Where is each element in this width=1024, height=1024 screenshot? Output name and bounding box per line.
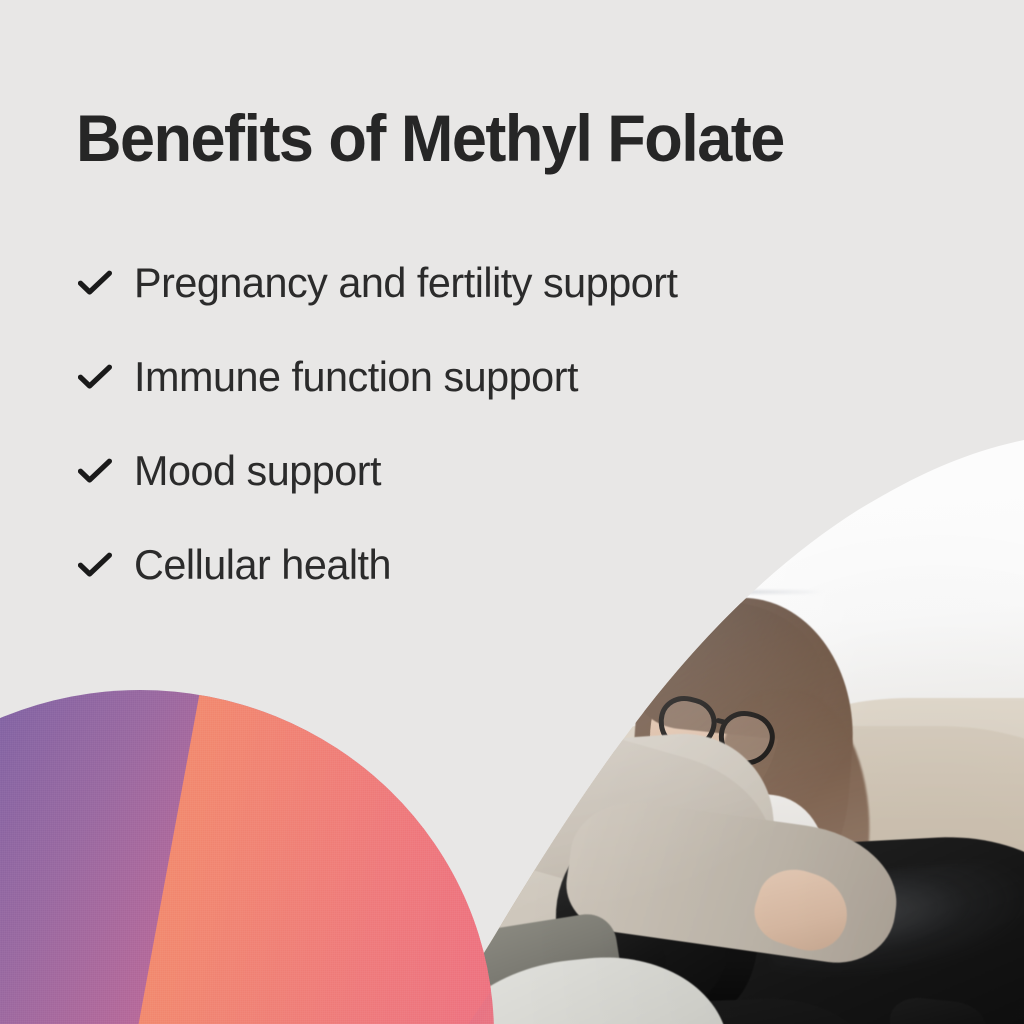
- list-item-label: Cellular health: [134, 544, 391, 586]
- list-item: Mood support: [76, 424, 976, 518]
- gradient-decoration: [0, 690, 494, 1024]
- promo-card: Benefits of Methyl Folate Pregnancy and …: [0, 0, 1024, 1024]
- page-title: Benefits of Methyl Folate: [76, 104, 916, 174]
- list-item: Immune function support: [76, 330, 976, 424]
- check-icon: [76, 364, 134, 390]
- list-item-label: Immune function support: [134, 356, 578, 398]
- check-icon: [76, 552, 134, 578]
- list-item-label: Mood support: [134, 450, 381, 492]
- check-icon: [76, 270, 134, 296]
- list-item: Pregnancy and fertility support: [76, 236, 976, 330]
- benefits-list: Pregnancy and fertility support Immune f…: [76, 236, 976, 612]
- list-item: Cellular health: [76, 518, 976, 612]
- list-item-label: Pregnancy and fertility support: [134, 262, 678, 304]
- gradient-wedge: [0, 690, 494, 1024]
- check-icon: [76, 458, 134, 484]
